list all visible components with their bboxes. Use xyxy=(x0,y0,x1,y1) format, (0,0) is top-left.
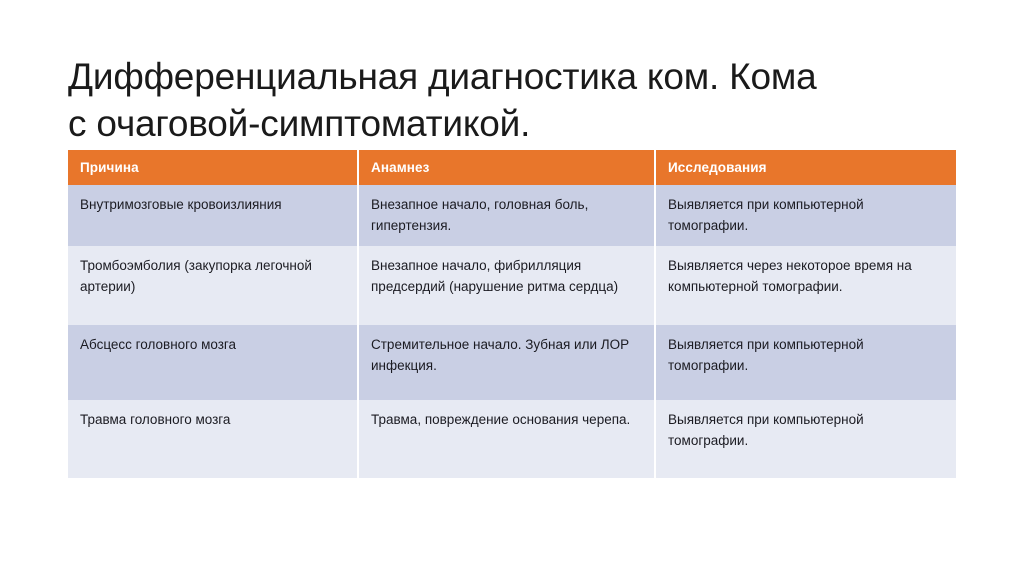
table-row: Абсцесс головного мозга Стремительное на… xyxy=(68,325,956,400)
column-header-history: Анамнез xyxy=(358,150,655,185)
cell-cause: Тромбоэмболия (закупорка легочной артери… xyxy=(68,246,358,325)
cell-history: Травма, повреждение основания черепа. xyxy=(358,400,655,478)
table-body: Внутримозговые кровоизлияния Внезапное н… xyxy=(68,185,956,478)
table-row: Внутримозговые кровоизлияния Внезапное н… xyxy=(68,185,956,246)
table-header-row: Причина Анамнез Исследования xyxy=(68,150,956,185)
cell-cause: Травма головного мозга xyxy=(68,400,358,478)
cell-studies: Выявляется при компьютерной томографии. xyxy=(655,185,956,246)
cell-history: Стремительное начало. Зубная или ЛОР инф… xyxy=(358,325,655,400)
table-row: Травма головного мозга Травма, поврежден… xyxy=(68,400,956,478)
cell-studies: Выявляется при компьютерной томографии. xyxy=(655,400,956,478)
differential-diagnosis-table: Причина Анамнез Исследования Внутримозго… xyxy=(68,150,956,478)
cell-studies: Выявляется при компьютерной томографии. xyxy=(655,325,956,400)
slide-canvas: Дифференциальная диагностика ком. Кома с… xyxy=(0,0,1024,574)
cell-history: Внезапное начало, головная боль, гиперте… xyxy=(358,185,655,246)
cell-history: Внезапное начало, фибрилляция предсердий… xyxy=(358,246,655,325)
table-row: Тромбоэмболия (закупорка легочной артери… xyxy=(68,246,956,325)
table-header: Причина Анамнез Исследования xyxy=(68,150,956,185)
cell-studies: Выявляется через некоторое время на комп… xyxy=(655,246,956,325)
cell-cause: Внутримозговые кровоизлияния xyxy=(68,185,358,246)
page-title: Дифференциальная диагностика ком. Кома с… xyxy=(68,53,958,148)
column-header-cause: Причина xyxy=(68,150,358,185)
cell-cause: Абсцесс головного мозга xyxy=(68,325,358,400)
column-header-studies: Исследования xyxy=(655,150,956,185)
differential-diagnosis-table-container: Причина Анамнез Исследования Внутримозго… xyxy=(68,150,956,478)
